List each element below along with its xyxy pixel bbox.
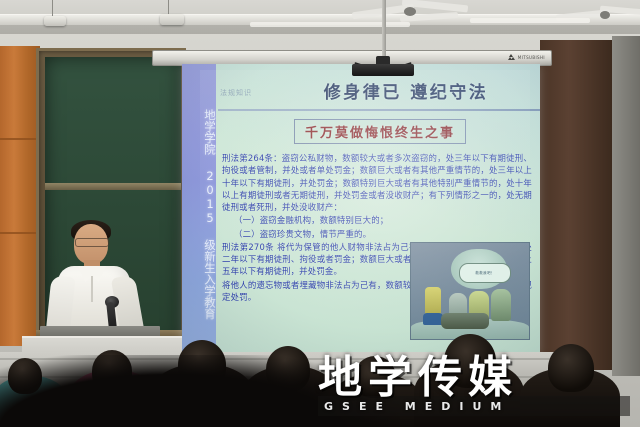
ceiling-light-mid <box>160 14 184 25</box>
screenshot-root: MITSUBISHI 地学学院 2015 级新生入学教育 法规知识 修身律已 遵… <box>0 0 640 427</box>
right-wall-edge <box>612 36 640 376</box>
slide-title: 修身律已 遵纪守法 <box>272 78 540 103</box>
watermark-chinese: 地学传媒 <box>318 356 630 400</box>
mitsubishi-wordmark: MITSUBISHI <box>518 55 545 60</box>
wood-wall-panel <box>0 46 40 346</box>
slide-paragraph: （一）盗窃金融机构，数额特别巨大的； <box>222 214 532 226</box>
right-wall-door <box>540 40 612 370</box>
slide-kicker-text: 法规知识 <box>220 88 280 98</box>
projector-mount-rod <box>382 0 386 58</box>
fan-hang-wire <box>168 0 169 14</box>
slide-side-banner: 地学学院 2015 级新生入学教育 <box>182 64 216 356</box>
cartoon-figure <box>423 313 443 325</box>
projection-screen: 地学学院 2015 级新生入学教育 法规知识 修身律已 遵纪守法 千万莫做悔恨终… <box>182 64 540 356</box>
ceiling-fan-right <box>556 6 640 28</box>
presentation-slide: 地学学院 2015 级新生入学教育 法规知识 修身律已 遵纪守法 千万莫做悔恨终… <box>182 64 540 356</box>
projector-body <box>352 64 414 76</box>
watermark: 地学传媒 GSEE MEDIUM <box>318 356 630 418</box>
slide-paragraph: （二）盗窃珍贵文物，情节严重的。 <box>222 228 532 240</box>
slide-subtitle: 千万莫做悔恨终生之事 <box>294 119 466 144</box>
mitsubishi-triangle-icon <box>508 54 515 60</box>
mitsubishi-logo: MITSUBISHI <box>508 54 545 60</box>
slide-title-rule <box>218 109 540 111</box>
ceiling-tube-light <box>250 22 410 27</box>
ceiling-tube-light <box>470 18 590 23</box>
presenter-shirt-placket <box>91 276 93 302</box>
cartoon-figure <box>491 289 511 321</box>
presenter-glasses <box>75 238 109 247</box>
slide-paragraph: 刑法第264条：盗窃公私财物，数额较大或者多次盗窃的，处三年以下有期徒刑、拘役或… <box>222 152 532 213</box>
watermark-english: GSEE MEDIUM <box>324 400 624 413</box>
slide-cartoon-illustration: 救救我吧！ <box>410 242 530 340</box>
ceiling-light-left <box>44 16 66 26</box>
ceiling-projector <box>352 56 414 76</box>
cartoon-figure <box>441 313 489 329</box>
cartoon-speech-bubble: 救救我吧！ <box>459 263 511 283</box>
